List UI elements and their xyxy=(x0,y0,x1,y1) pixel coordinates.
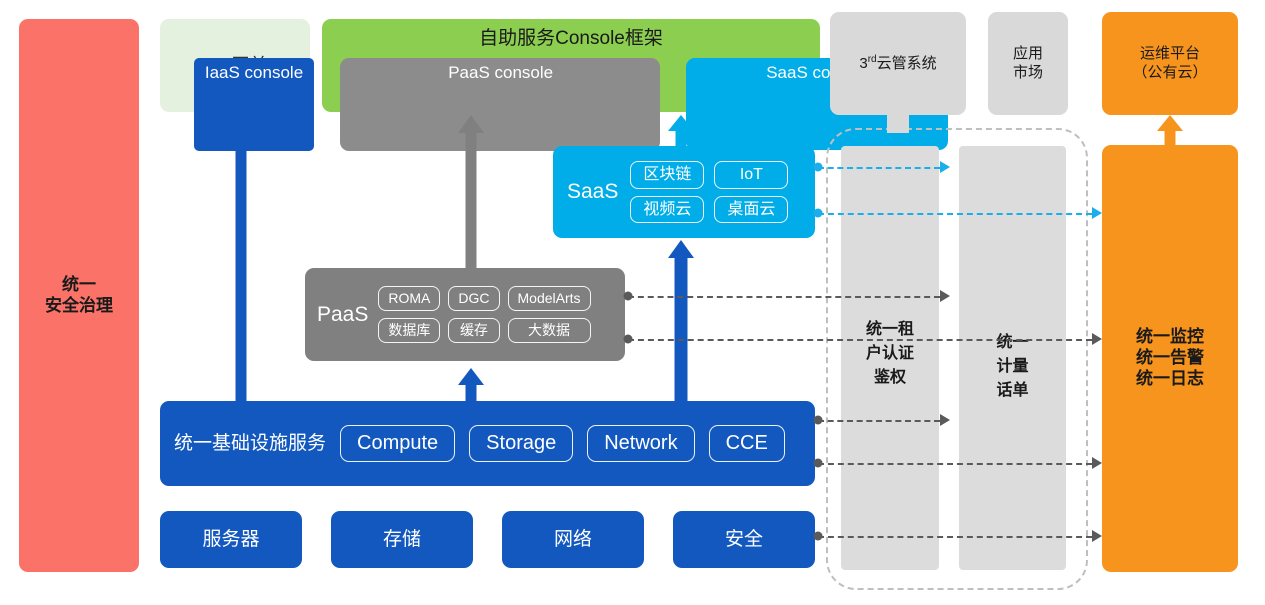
infra-service-storage[interactable]: Storage xyxy=(469,425,573,461)
arrowhead-saas-to-auth xyxy=(940,161,950,173)
infrastructure-layer-box[interactable]: 统一基础设施服务 Compute Storage Network CCE xyxy=(160,401,815,486)
paas-console-chip[interactable]: PaaS console xyxy=(340,58,660,151)
resource-box-network[interactable]: 网络 xyxy=(502,511,644,568)
paas-layer-label: PaaS xyxy=(317,302,368,328)
resource-box-security[interactable]: 安全 xyxy=(673,511,815,568)
paas-service-grid: ROMA DGC ModelArts 数据库 缓存 大数据 xyxy=(378,286,590,343)
arrow-infra-to-saas xyxy=(668,240,694,404)
infrastructure-layer-label: 统一基础设施服务 xyxy=(174,432,326,455)
arrow-to-third-party-cloud-mgmt xyxy=(886,115,910,133)
third-party-prefix: 3 xyxy=(859,55,867,72)
third-party-cloud-mgmt-box[interactable]: 3rd云管系统 xyxy=(830,12,966,115)
saas-service-iot[interactable]: IoT xyxy=(714,161,788,189)
ops-platform-head-line1: 运维平台 xyxy=(1132,45,1207,63)
third-party-suffix: 云管系统 xyxy=(877,55,937,72)
connector-paas-to-auth xyxy=(628,296,940,298)
ops-platform-body-line2: 统一告警 xyxy=(1136,348,1204,369)
paas-service-modelarts[interactable]: ModelArts xyxy=(508,286,591,311)
paas-layer-box[interactable]: PaaS ROMA DGC ModelArts 数据库 缓存 大数据 xyxy=(305,268,625,361)
auth-line1: 统一租 xyxy=(866,315,914,339)
unified-metering-column[interactable]: 统一 计量 话单 xyxy=(959,146,1066,570)
console-framework-title: 自助服务Console框架 xyxy=(479,27,663,50)
ops-platform-body-line1: 统一监控 xyxy=(1136,327,1204,348)
connector-resources-to-ops xyxy=(818,536,1092,538)
paas-service-dgc[interactable]: DGC xyxy=(448,286,499,311)
arrowhead-infra-to-auth xyxy=(940,414,950,426)
infra-service-cce[interactable]: CCE xyxy=(709,425,785,461)
resource-box-server[interactable]: 服务器 xyxy=(160,511,302,568)
arrow-saas-to-console xyxy=(668,115,694,149)
resource-box-storage[interactable]: 存储 xyxy=(331,511,473,568)
security-governance-panel[interactable]: 统一 安全治理 xyxy=(19,19,139,572)
infra-service-network[interactable]: Network xyxy=(587,425,694,461)
arrowhead-paas-to-ops xyxy=(1092,333,1102,345)
auth-line2: 户认证 xyxy=(866,339,914,363)
arrow-to-ops-platform xyxy=(1157,115,1183,147)
paas-service-bigdata[interactable]: 大数据 xyxy=(508,318,591,343)
resource-label-security: 安全 xyxy=(725,528,763,551)
ops-platform-header-box[interactable]: 运维平台 （公有云） xyxy=(1102,12,1238,115)
connector-paas-to-ops xyxy=(628,339,1092,341)
auth-line3: 鉴权 xyxy=(866,363,914,387)
saas-service-video-cloud[interactable]: 视频云 xyxy=(630,196,704,224)
third-party-sup: rd xyxy=(868,54,877,65)
connector-infra-to-ops xyxy=(818,463,1092,465)
arrow-infra-to-paas xyxy=(458,368,484,404)
app-market-box[interactable]: 应用 市场 xyxy=(988,12,1068,115)
metering-line3: 话单 xyxy=(996,376,1028,400)
ops-platform-body-line3: 统一日志 xyxy=(1136,369,1204,390)
connector-infra-to-auth xyxy=(818,420,940,422)
ops-platform-body-box[interactable]: 统一监控 统一告警 统一日志 xyxy=(1102,145,1238,572)
ops-platform-head-line2: （公有云） xyxy=(1132,64,1207,82)
saas-service-desktop-cloud[interactable]: 桌面云 xyxy=(714,196,788,224)
arrow-paas-to-console xyxy=(458,115,484,270)
architecture-diagram: 统一 安全治理 API网关 自助服务Console框架 IaaS console… xyxy=(0,0,1265,605)
console-framework-box[interactable]: 自助服务Console框架 IaaS console PaaS console … xyxy=(322,19,820,112)
resource-label-server: 服务器 xyxy=(202,528,259,551)
metering-line2: 计量 xyxy=(996,352,1028,376)
connector-saas-to-ops xyxy=(818,213,1092,215)
saas-layer-label: SaaS xyxy=(567,179,618,205)
paas-service-cache[interactable]: 缓存 xyxy=(448,318,499,343)
iaas-console-chip[interactable]: IaaS console xyxy=(194,58,314,151)
arrowhead-resources-to-ops xyxy=(1092,530,1102,542)
security-governance-line1: 统一 xyxy=(45,275,113,296)
security-governance-line2: 安全治理 xyxy=(45,296,113,317)
resource-label-storage: 存储 xyxy=(383,528,421,551)
infra-service-compute[interactable]: Compute xyxy=(340,425,455,461)
arrowhead-paas-to-auth xyxy=(940,290,950,302)
app-market-line1: 应用 xyxy=(1013,45,1043,63)
resource-label-network: 网络 xyxy=(554,528,592,551)
connector-saas-to-auth xyxy=(818,167,940,169)
app-market-line2: 市场 xyxy=(1013,64,1043,82)
paas-service-database[interactable]: 数据库 xyxy=(378,318,440,343)
saas-service-grid: 区块链 IoT 视频云 桌面云 xyxy=(630,161,788,223)
unified-tenant-auth-column[interactable]: 统一租 户认证 鉴权 xyxy=(841,146,939,570)
saas-service-blockchain[interactable]: 区块链 xyxy=(630,161,704,189)
arrow-infra-to-api-gateway xyxy=(228,115,254,403)
arrowhead-infra-to-ops xyxy=(1092,457,1102,469)
saas-layer-box[interactable]: SaaS 区块链 IoT 视频云 桌面云 xyxy=(553,146,815,238)
arrowhead-saas-to-ops xyxy=(1092,207,1102,219)
paas-service-roma[interactable]: ROMA xyxy=(378,286,440,311)
